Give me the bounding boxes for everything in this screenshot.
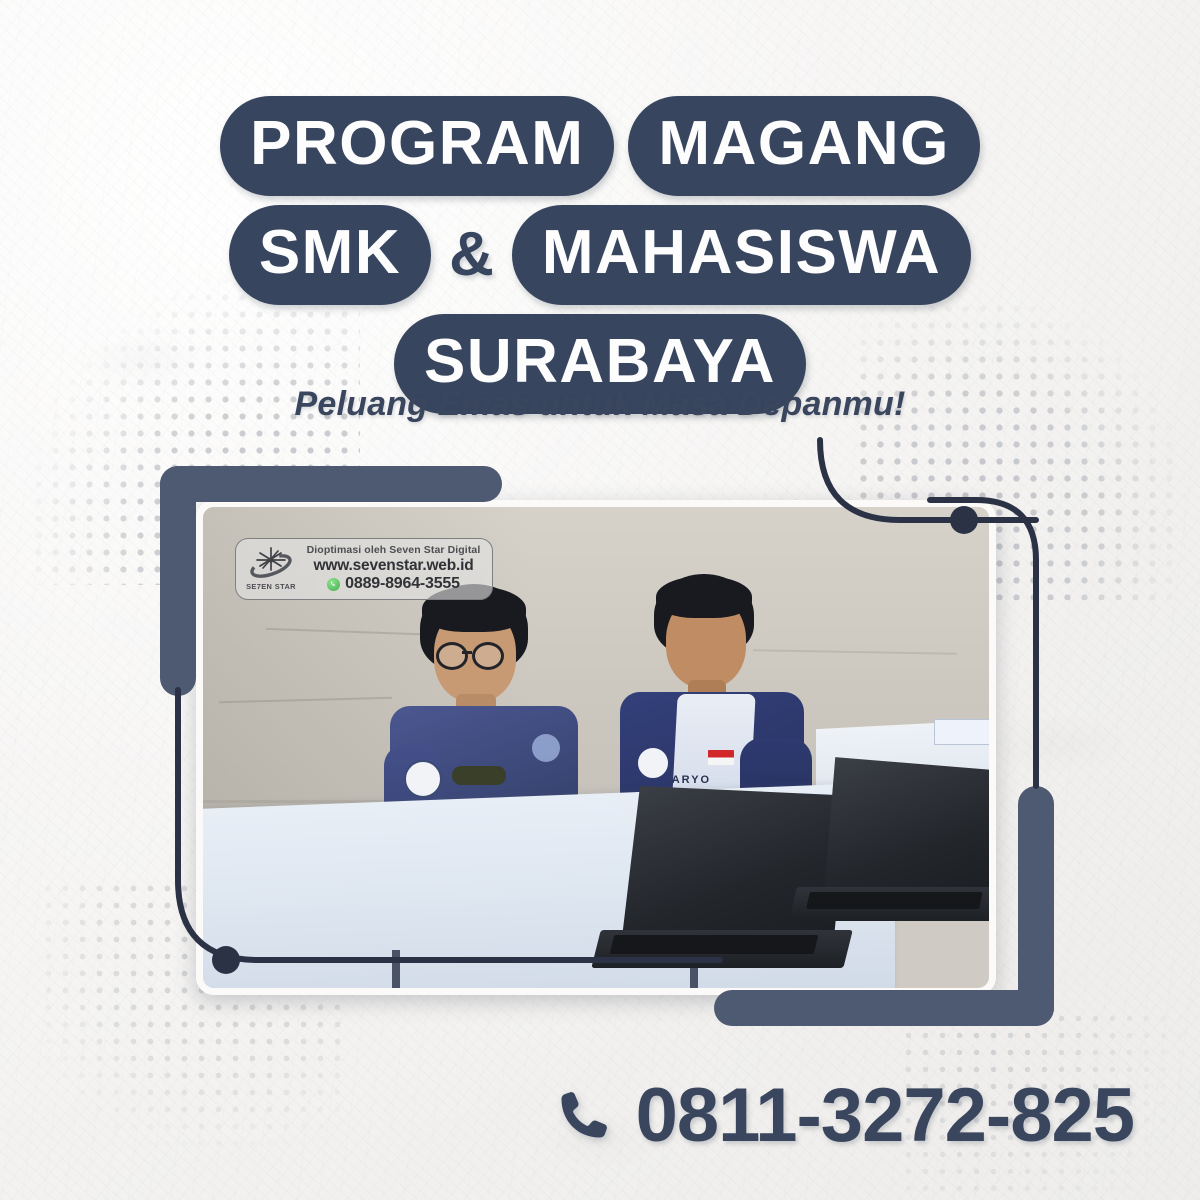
headline-block: PROGRAM MAGANG SMK & MAHASISWA SURABAYA (0, 96, 1200, 423)
watermark-line1: Dioptimasi oleh Seven Star Digital (304, 545, 483, 556)
person-right-emblem-patch (636, 746, 670, 780)
indonesia-flag-pin (708, 750, 734, 765)
glasses-bridge (462, 651, 472, 654)
uniform-logo (532, 734, 560, 762)
photo-container: ARYO (196, 500, 996, 995)
watermark-phone-row: 0889-8964-3555 (304, 575, 483, 592)
sevenstar-logo-icon: SE7EN STAR (245, 544, 297, 594)
bracket-bottom-right-vertical (1018, 786, 1054, 1026)
laptop-right-lid (824, 757, 989, 901)
laptop-right-keyboard (806, 892, 982, 909)
person-right-name-label: ARYO (672, 774, 724, 788)
headline-word-program: PROGRAM (220, 96, 614, 196)
bracket-bottom-right-horizontal (714, 990, 1054, 1026)
watermark-website: www.sevenstar.web.id (304, 558, 483, 575)
poster-subtitle: Peluang Emas untuk Masa Depanmu! (0, 385, 1200, 424)
laptop-left-lid (612, 786, 848, 945)
contact-phone-number: 0811-3272-825 (636, 1078, 1134, 1154)
watermark-badge: SE7EN STAR Dioptimasi oleh Seven Star Di… (235, 538, 493, 600)
school-emblem-patch (404, 760, 442, 798)
svg-text:SE7EN STAR: SE7EN STAR (246, 582, 296, 591)
internship-photo: ARYO (196, 500, 996, 995)
headline-word-smk: SMK (229, 205, 431, 305)
main-desk-leg-1 (392, 950, 400, 988)
headline-line-1: PROGRAM MAGANG (0, 96, 1200, 196)
person-left-glasses (436, 642, 512, 668)
headline-word-magang: MAGANG (628, 96, 979, 196)
headline-word-mahasiswa: MAHASISWA (512, 205, 971, 305)
watermark-phone-number: 0889-8964-3555 (345, 575, 460, 592)
watermark-text: Dioptimasi oleh Seven Star Digital www.s… (304, 545, 483, 592)
poster-canvas: PROGRAM MAGANG SMK & MAHASISWA SURABAYA … (0, 0, 1200, 1200)
phone-icon (554, 1087, 612, 1145)
bracket-top-left-horizontal (160, 466, 502, 502)
contact-row[interactable]: 0811-3272-825 (0, 1078, 1200, 1154)
laptop-left-keyboard (609, 935, 818, 954)
headline-line-2: SMK & MAHASISWA (0, 205, 1200, 305)
paper-on-side-desk (934, 719, 989, 745)
glasses-lens-left (436, 642, 468, 670)
glasses-lens-right (472, 642, 504, 670)
person-left-nametag (452, 766, 506, 785)
bracket-top-left-vertical (160, 466, 196, 696)
whatsapp-icon (327, 578, 340, 591)
headline-ampersand: & (445, 224, 498, 286)
person-right-fringe (656, 576, 752, 618)
